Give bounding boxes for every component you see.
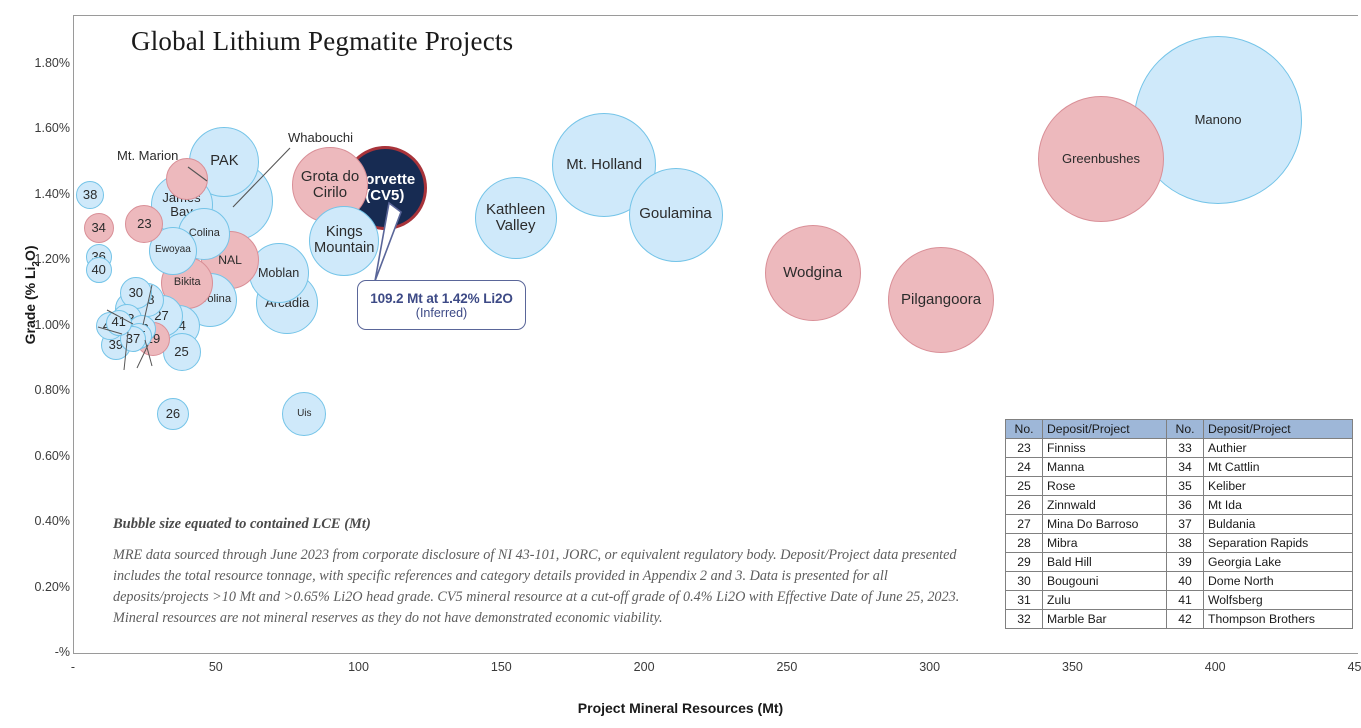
legend-header-cell: No. <box>1167 420 1204 439</box>
legend-number: 26 <box>1006 496 1043 515</box>
legend-row: 24Manna <box>1006 458 1171 477</box>
legend-row: 36Mt Ida <box>1167 496 1353 515</box>
legend-project-name: Wolfsberg <box>1204 591 1353 610</box>
footnote-heading: Bubble size equated to contained LCE (Mt… <box>113 516 371 533</box>
y-tick-label: 1.40% <box>6 187 70 201</box>
y-tick-label: 1.20% <box>6 252 70 266</box>
legend-row: 30Bougouni <box>1006 572 1171 591</box>
legend-project-name: Mt Cattlin <box>1204 458 1353 477</box>
bubble-label: Bikita <box>172 277 203 289</box>
bubble-kings-mountain[interactable]: KingsMountain <box>309 206 379 276</box>
plot-frame-left <box>73 15 74 653</box>
bubble-label: 30 <box>127 286 145 300</box>
legend-project-name: Authier <box>1204 439 1353 458</box>
chart-canvas: Global Lithium Pegmatite Projects Grade … <box>0 0 1361 728</box>
bubble-label: Grota doCirilo <box>299 169 361 201</box>
bubble-label: Pilgangoora <box>899 292 983 308</box>
legend-number: 30 <box>1006 572 1043 591</box>
bubble-label: 37 <box>124 332 142 346</box>
bubble-label: Ewoyaa <box>153 245 193 256</box>
bubble-uis[interactable]: Uis <box>282 392 326 436</box>
legend-project-name: Bougouni <box>1043 572 1171 591</box>
bubble-kathleen-valley[interactable]: KathleenValley <box>475 177 557 259</box>
corvette-callout: 109.2 Mt at 1.42% Li2O (Inferred) <box>357 280 526 330</box>
x-axis-title: Project Mineral Resources (Mt) <box>0 700 1361 716</box>
bubble-greenbushes[interactable]: Greenbushes <box>1038 96 1164 222</box>
legend-row: 27Mina Do Barroso <box>1006 515 1171 534</box>
legend-table-left: No.Deposit/Project23Finniss24Manna25Rose… <box>1005 419 1171 629</box>
legend-row: 41Wolfsberg <box>1167 591 1353 610</box>
legend-row: 33Authier <box>1167 439 1353 458</box>
legend-number: 41 <box>1167 591 1204 610</box>
legend-project-name: Bald Hill <box>1043 553 1171 572</box>
bubble-26[interactable]: 26 <box>157 398 189 430</box>
x-tick-label: 300 <box>900 660 960 674</box>
x-tick-label: 450 <box>1328 660 1361 674</box>
legend-row: 32Marble Bar <box>1006 610 1171 629</box>
y-tick-label: 1.60% <box>6 121 70 135</box>
legend-number: 28 <box>1006 534 1043 553</box>
legend-row: 31Zulu <box>1006 591 1171 610</box>
bubble-label: 40 <box>89 263 107 277</box>
bubble-label: 25 <box>172 345 190 359</box>
legend-header-row: No.Deposit/Project <box>1006 420 1171 439</box>
legend-number: 38 <box>1167 534 1204 553</box>
legend-row: 25Rose <box>1006 477 1171 496</box>
y-tick-label: 0.60% <box>6 449 70 463</box>
legend-row: 37Buldania <box>1167 515 1353 534</box>
bubble-label: Moblan <box>256 267 301 281</box>
legend-row: 40Dome North <box>1167 572 1353 591</box>
legend-table-right: No.Deposit/Project33Authier34Mt Cattlin3… <box>1166 419 1353 629</box>
bubble-label: KathleenValley <box>484 202 547 234</box>
plot-frame-top <box>73 15 1358 16</box>
legend-project-name: Mina Do Barroso <box>1043 515 1171 534</box>
label-whabouchi: Whabouchi <box>288 130 353 145</box>
bubble-label: NAL <box>216 254 244 267</box>
legend-number: 40 <box>1167 572 1204 591</box>
bubble-label: Mt. Holland <box>564 157 644 173</box>
legend-row: 35Keliber <box>1167 477 1353 496</box>
legend-header-cell: Deposit/Project <box>1204 420 1353 439</box>
legend-project-name: Manna <box>1043 458 1171 477</box>
x-tick-label: 200 <box>614 660 674 674</box>
y-tick-label: 1.00% <box>6 318 70 332</box>
bubble-label: 26 <box>164 407 182 421</box>
legend-number: 31 <box>1006 591 1043 610</box>
bubble-label: Goulamina <box>637 206 714 222</box>
footnote-body: MRE data sourced through June 2023 from … <box>113 545 978 629</box>
y-tick-label: 0.80% <box>6 383 70 397</box>
bubble-34[interactable]: 34 <box>84 213 114 243</box>
label-mt-marion: Mt. Marion <box>117 148 178 163</box>
y-tick-label: 0.20% <box>6 580 70 594</box>
bubble-label: Greenbushes <box>1060 152 1142 166</box>
legend-project-name: Zulu <box>1043 591 1171 610</box>
legend-number: 32 <box>1006 610 1043 629</box>
bubble-label: Uis <box>295 409 313 420</box>
legend-project-name: Mibra <box>1043 534 1171 553</box>
legend-number: 35 <box>1167 477 1204 496</box>
x-tick-label: 250 <box>757 660 817 674</box>
bubble-label: 41 <box>109 315 127 329</box>
legend-number: 39 <box>1167 553 1204 572</box>
bubble-goulamina[interactable]: Goulamina <box>629 168 723 262</box>
bubble-wodgina[interactable]: Wodgina <box>765 225 861 321</box>
legend-project-name: Rose <box>1043 477 1171 496</box>
legend-row: 38Separation Rapids <box>1167 534 1353 553</box>
bubble-label: Wodgina <box>781 265 844 281</box>
legend-project-name: Mt Ida <box>1204 496 1353 515</box>
bubble-mt-marion[interactable] <box>166 158 208 200</box>
legend-project-name: Marble Bar <box>1043 610 1171 629</box>
y-axis-ticks: 1.80%1.60%1.40%1.20%1.00%0.80%0.60%0.40%… <box>0 0 70 728</box>
bubble-label: 23 <box>135 217 153 231</box>
legend-header-row: No.Deposit/Project <box>1167 420 1353 439</box>
legend-project-name: Keliber <box>1204 477 1353 496</box>
legend-number: 23 <box>1006 439 1043 458</box>
legend-row: 42Thompson Brothers <box>1167 610 1353 629</box>
legend-project-name: Buldania <box>1204 515 1353 534</box>
x-tick-label: - <box>43 660 103 674</box>
bubble-41[interactable]: 41 <box>106 310 132 336</box>
legend-number: 36 <box>1167 496 1204 515</box>
legend-row: 28Mibra <box>1006 534 1171 553</box>
legend-row: 29Bald Hill <box>1006 553 1171 572</box>
legend-project-name: Finniss <box>1043 439 1171 458</box>
y-tick-label: 0.40% <box>6 514 70 528</box>
legend-number: 33 <box>1167 439 1204 458</box>
plot-frame-bottom <box>73 653 1358 654</box>
legend-header-cell: No. <box>1006 420 1043 439</box>
legend-number: 34 <box>1167 458 1204 477</box>
bubble-label: 34 <box>89 221 107 235</box>
y-tick-label: 1.80% <box>6 56 70 70</box>
chart-title: Global Lithium Pegmatite Projects <box>131 26 513 57</box>
x-tick-label: 150 <box>471 660 531 674</box>
legend-number: 37 <box>1167 515 1204 534</box>
x-tick-label: 100 <box>329 660 389 674</box>
legend-project-name: Separation Rapids <box>1204 534 1353 553</box>
legend-number: 25 <box>1006 477 1043 496</box>
x-tick-label: 50 <box>186 660 246 674</box>
legend-number: 24 <box>1006 458 1043 477</box>
legend-project-name: Thompson Brothers <box>1204 610 1353 629</box>
bubble-38[interactable]: 38 <box>76 181 104 209</box>
bubble-40[interactable]: 40 <box>86 257 112 283</box>
legend-row: 34Mt Cattlin <box>1167 458 1353 477</box>
legend-row: 23Finniss <box>1006 439 1171 458</box>
bubble-label: Manono <box>1193 113 1244 127</box>
legend-row: 26Zinnwald <box>1006 496 1171 515</box>
y-tick-label: -% <box>6 645 70 659</box>
legend-number: 29 <box>1006 553 1043 572</box>
x-tick-label: 400 <box>1185 660 1245 674</box>
legend-number: 27 <box>1006 515 1043 534</box>
callout-line-2: (Inferred) <box>416 306 467 320</box>
bubble-label: PAK <box>208 154 240 170</box>
x-tick-label: 350 <box>1042 660 1102 674</box>
legend-project-name: Georgia Lake <box>1204 553 1353 572</box>
bubble-pilgangoora[interactable]: Pilgangoora <box>888 247 994 353</box>
legend-header-cell: Deposit/Project <box>1043 420 1171 439</box>
callout-line-1: 109.2 Mt at 1.42% Li2O <box>370 291 513 306</box>
legend-project-name: Zinnwald <box>1043 496 1171 515</box>
legend-number: 42 <box>1167 610 1204 629</box>
bubble-label: KingsMountain <box>312 225 376 257</box>
bubble-label: 38 <box>81 188 99 202</box>
legend-row: 39Georgia Lake <box>1167 553 1353 572</box>
legend-project-name: Dome North <box>1204 572 1353 591</box>
